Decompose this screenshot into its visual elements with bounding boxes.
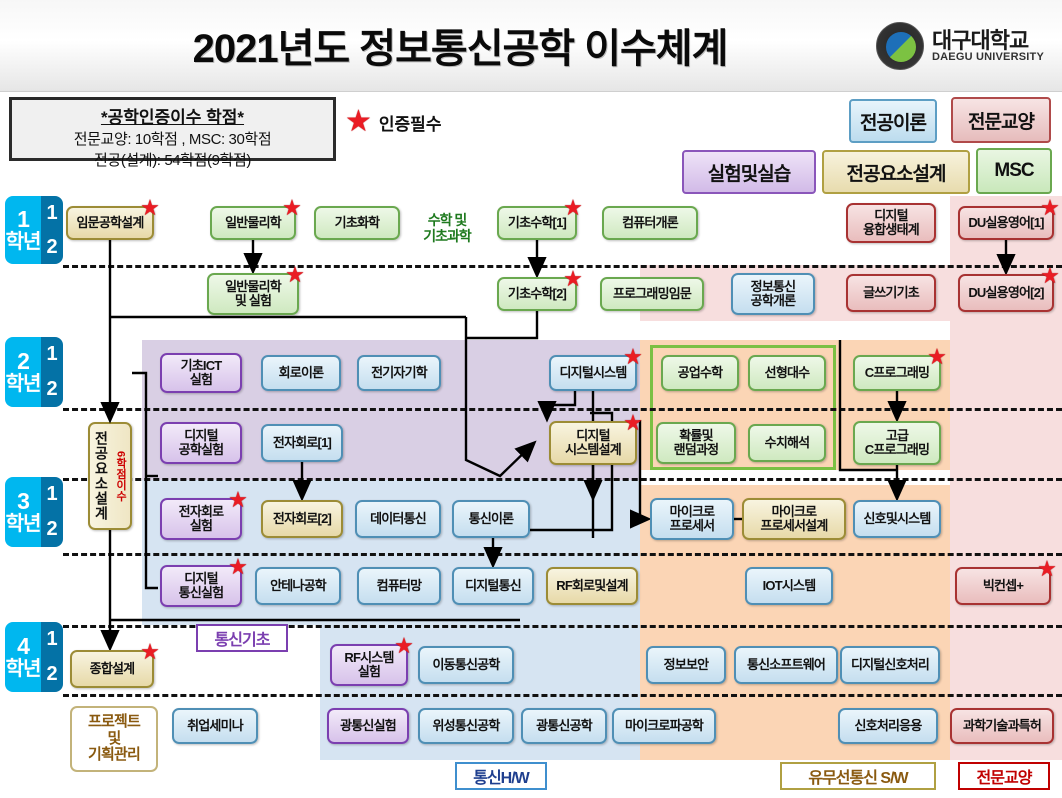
star-icon: ★ <box>345 107 372 137</box>
course-box-c46[interactable]: 디지털신호처리 <box>840 646 940 684</box>
course-box-c6[interactable]: 디지털 융합생태계 <box>846 203 936 243</box>
course-label: 확률및 랜덤과정 <box>674 429 719 458</box>
course-box-c45[interactable]: 통신소프트웨어 <box>734 646 838 684</box>
course-box-c28[interactable]: 전자회로[2] <box>261 500 343 538</box>
semester-1: 1 <box>46 628 57 651</box>
curriculum-diagram: 2021년도 정보통신공학 이수체계 대구대학교 DAEGU UNIVERSIT… <box>0 0 1062 798</box>
course-box-c29[interactable]: 데이터통신 <box>355 500 441 538</box>
course-label: 광통신실험 <box>340 719 396 733</box>
course-label: 전기자기학 <box>371 366 427 380</box>
semester-separator-4 <box>63 553 1062 556</box>
course-label: C프로그래밍 <box>865 366 929 380</box>
course-label: 신호및시스템 <box>864 512 931 526</box>
year-block-2: 2학년12 <box>5 337 63 407</box>
course-box-c49[interactable]: 광통신실험 <box>327 708 409 744</box>
course-box-c51[interactable]: 광통신공학 <box>521 708 607 744</box>
category-label-hw: 통신H/W <box>455 762 547 790</box>
semester-column-2: 12 <box>41 337 63 407</box>
course-label: 수치해석 <box>765 436 810 450</box>
semester-2: 2 <box>46 378 57 401</box>
course-label: IOT시스템 <box>763 579 816 593</box>
course-label: 이동통신공학 <box>433 658 500 672</box>
university-name-en: DAEGU UNIVERSITY <box>932 52 1044 64</box>
year-block-1: 1학년12 <box>5 196 63 264</box>
course-label: 빅컨셉+ <box>983 579 1023 593</box>
course-box-c35[interactable]: 안테나공학 <box>255 567 341 605</box>
course-label: RF회로및설계 <box>556 579 628 593</box>
credit-line-2: 전공(설계): 54학점(9학점) <box>12 149 333 170</box>
semester-2: 2 <box>46 518 57 541</box>
course-box-c16[interactable]: 전기자기학 <box>357 355 441 391</box>
course-box-c50[interactable]: 위성통신공학 <box>418 708 514 744</box>
year-digit: 1 <box>17 208 29 231</box>
course-box-c11[interactable]: 정보통신 공학개론 <box>731 273 815 315</box>
credit-line-1: 전문교양: 10학점 , MSC: 30학점 <box>12 128 333 149</box>
course-label: 전자회로 실험 <box>179 505 224 534</box>
design-credit-note: 6학점이수 <box>113 451 129 501</box>
course-label: 통신소프트웨어 <box>747 658 825 672</box>
course-label: 디지털신호처리 <box>851 658 929 672</box>
course-label: 위성통신공학 <box>433 719 500 733</box>
university-seal-icon <box>876 22 924 70</box>
course-box-c47[interactable]: 프로젝트 및 기획관리 <box>70 706 158 772</box>
star-legend: ★ 인증필수 <box>345 107 441 137</box>
course-label: 일반물리학 및 실험 <box>225 280 281 309</box>
year-suffix: 학년 <box>6 514 41 534</box>
course-label: 취업세미나 <box>187 719 243 733</box>
design-credit-column: 전공요소설계 6학점이수 <box>88 422 132 530</box>
course-label: 고급 C프로그래밍 <box>865 429 929 458</box>
course-box-c24[interactable]: 수치해석 <box>748 424 826 462</box>
category-label-sw: 유무선통신 S/W <box>780 762 936 790</box>
course-box-c38[interactable]: RF회로및설계 <box>546 567 638 605</box>
required-star-icon: ★ <box>140 641 159 663</box>
year-block-4: 4학년12 <box>5 622 63 692</box>
design-credit-label: 전공요소설계 <box>92 431 112 521</box>
course-label: 디지털 시스템설계 <box>565 429 621 458</box>
course-label: 데이터통신 <box>370 512 426 526</box>
course-box-c52[interactable]: 마이크로파공학 <box>612 708 716 744</box>
course-box-c5[interactable]: 컴퓨터개론 <box>602 206 698 240</box>
semester-separator-6 <box>63 694 1062 697</box>
credit-requirements-box: *공학인증이수 학점* 전문교양: 10학점 , MSC: 30학점 전공(설계… <box>9 97 336 161</box>
course-label: 컴퓨터망 <box>377 579 422 593</box>
category-label-liberal: 전문교양 <box>958 762 1050 790</box>
year-digit: 3 <box>17 490 29 513</box>
course-box-c54[interactable]: 과학기술과특허 <box>950 708 1054 744</box>
course-box-c8[interactable]: 일반물리학 및 실험★ <box>207 273 299 315</box>
math-label-line2: 기초과학 <box>404 228 490 244</box>
course-label: 기초ICT 실험 <box>181 359 222 388</box>
semester-1: 1 <box>46 202 57 225</box>
course-label: 마이크로 프로세서 <box>670 505 715 534</box>
course-box-c42[interactable]: RF시스템 실험★ <box>330 644 408 686</box>
credit-title: *공학인증이수 학점* <box>12 103 333 128</box>
legend-chip-liberal: 전문교양 <box>951 97 1051 143</box>
course-label: 광통신공학 <box>536 719 592 733</box>
course-box-c21[interactable]: 디지털 공학실험 <box>160 422 242 464</box>
course-label: 컴퓨터개론 <box>622 216 678 230</box>
course-box-c15[interactable]: 회로이론 <box>261 355 341 391</box>
semester-separator-3 <box>63 478 1062 481</box>
year-number-3: 3학년 <box>5 477 41 547</box>
course-label: 정보보안 <box>664 658 709 672</box>
semester-column-4: 12 <box>41 622 63 692</box>
course-label: DU실용영어[2] <box>968 286 1043 300</box>
course-box-c33[interactable]: 신호및시스템 <box>853 500 941 538</box>
course-label: 기초수학[2] <box>508 287 566 301</box>
course-box-c13[interactable]: DU실용영어[2]★ <box>958 274 1054 312</box>
course-box-c25[interactable]: 디지털 시스템설계★ <box>549 421 637 465</box>
course-box-c23[interactable]: 확률및 랜덤과정 <box>656 422 736 464</box>
course-label: 디지털 융합생태계 <box>863 209 919 238</box>
legend-chip-lab: 실험및실습 <box>682 150 816 194</box>
course-box-c31[interactable]: 마이크로 프로세서 <box>650 498 734 540</box>
semester-column-1: 12 <box>41 196 63 264</box>
year-digit: 2 <box>17 350 29 373</box>
semester-column-3: 12 <box>41 477 63 547</box>
course-box-c26[interactable]: 고급 C프로그래밍 <box>853 421 941 465</box>
course-label: 디지털 공학실험 <box>179 429 224 458</box>
year-suffix: 학년 <box>6 232 41 252</box>
course-box-c17[interactable]: 디지털시스템★ <box>549 355 637 391</box>
course-label: 마이크로 프로세서설계 <box>761 505 828 534</box>
course-box-c20[interactable]: C프로그래밍★ <box>853 355 941 391</box>
course-box-c44[interactable]: 정보보안 <box>646 646 726 684</box>
course-label: 프로그래밍임문 <box>613 287 691 301</box>
required-star-icon: ★ <box>282 197 301 219</box>
course-box-c53[interactable]: 신호처리응용 <box>838 708 938 744</box>
year-number-1: 1학년 <box>5 196 41 264</box>
course-box-c43[interactable]: 이동통신공학 <box>418 646 514 684</box>
course-box-c40[interactable]: 빅컨셉+★ <box>955 567 1051 605</box>
course-box-c41[interactable]: 종합설계★ <box>70 650 154 688</box>
course-box-c36[interactable]: 컴퓨터망 <box>357 567 441 605</box>
course-label: 기초수학[1] <box>508 216 566 230</box>
semester-2: 2 <box>46 236 57 259</box>
course-box-c10[interactable]: 프로그래밍임문 <box>600 277 704 311</box>
course-box-c30[interactable]: 통신이론 <box>452 500 530 538</box>
star-legend-label: 인증필수 <box>379 110 442 135</box>
course-box-c22[interactable]: 전자회로[1] <box>261 424 343 462</box>
legend-chip-theory: 전공이론 <box>849 99 937 143</box>
university-name-ko: 대구대학교 <box>932 29 1044 52</box>
course-box-c1[interactable]: 임문공학설계★ <box>66 206 154 240</box>
course-label: DU실용영어[1] <box>968 216 1043 230</box>
course-box-c9[interactable]: 기초수학[2]★ <box>497 277 577 311</box>
university-logo: 대구대학교 DAEGU UNIVERSITY <box>876 22 1044 70</box>
semester-separator-1 <box>63 265 1062 268</box>
course-box-c14[interactable]: 기초ICT 실험 <box>160 353 242 393</box>
course-box-c39[interactable]: IOT시스템 <box>745 567 833 605</box>
course-label: 글쓰기기초 <box>863 286 919 300</box>
category-label-basic: 통신기초 <box>196 624 288 652</box>
year-block-3: 3학년12 <box>5 477 63 547</box>
course-box-c19[interactable]: 선형대수 <box>748 355 826 391</box>
year-number-4: 4학년 <box>5 622 41 692</box>
course-label: 프로젝트 및 기획관리 <box>88 714 140 764</box>
course-box-c48[interactable]: 취업세미나 <box>172 708 258 744</box>
semester-1: 1 <box>46 483 57 506</box>
course-label: 통신이론 <box>469 512 514 526</box>
course-label: 일반물리학 <box>225 216 281 230</box>
course-box-c27[interactable]: 전자회로 실험★ <box>160 498 242 540</box>
year-digit: 4 <box>17 635 29 658</box>
course-label: 전자회로[1] <box>273 436 331 450</box>
course-box-c34[interactable]: 디지털 통신실험★ <box>160 565 242 607</box>
course-box-c37[interactable]: 디지털통신 <box>452 567 534 605</box>
course-box-c18[interactable]: 공업수학 <box>661 355 739 391</box>
course-box-c4[interactable]: 기초수학[1]★ <box>497 206 577 240</box>
math-science-label: 수학 및 기초과학 <box>404 212 490 244</box>
year-suffix: 학년 <box>6 374 41 394</box>
course-label: 선형대수 <box>765 366 810 380</box>
course-label: 과학기술과특허 <box>963 719 1041 733</box>
course-label: 전자회로[2] <box>273 512 331 526</box>
course-label: 회로이론 <box>279 366 324 380</box>
legend-chip-msc: MSC <box>976 148 1052 194</box>
math-label-line1: 수학 및 <box>404 212 490 228</box>
year-suffix: 학년 <box>6 659 41 679</box>
page-header: 2021년도 정보통신공학 이수체계 대구대학교 DAEGU UNIVERSIT… <box>0 0 1062 92</box>
course-label: 공업수학 <box>678 366 723 380</box>
course-label: 정보통신 공학개론 <box>751 280 796 309</box>
course-box-c3[interactable]: 기초화학 <box>314 206 400 240</box>
course-box-c7[interactable]: DU실용영어[1]★ <box>958 206 1054 240</box>
year-number-2: 2학년 <box>5 337 41 407</box>
semester-separator-2 <box>63 408 1062 411</box>
course-label: 신호처리응용 <box>855 719 922 733</box>
course-box-c32[interactable]: 마이크로 프로세서설계 <box>742 498 846 540</box>
legend-chip-design: 전공요소설계 <box>822 150 970 194</box>
course-label: 안테나공학 <box>270 579 326 593</box>
course-box-c2[interactable]: 일반물리학★ <box>210 206 296 240</box>
course-label: 임문공학설계 <box>77 216 144 230</box>
course-label: 디지털 통신실험 <box>179 572 224 601</box>
course-label: 디지털시스템 <box>560 366 627 380</box>
semester-2: 2 <box>46 663 57 686</box>
page-title: 2021년도 정보통신공학 이수체계 <box>100 16 820 74</box>
course-box-c12[interactable]: 글쓰기기초 <box>846 274 936 312</box>
course-label: 기초화학 <box>335 216 380 230</box>
course-label: 종합설계 <box>90 662 135 676</box>
course-label: RF시스템 실험 <box>344 651 393 680</box>
course-label: 디지털통신 <box>465 579 521 593</box>
semester-1: 1 <box>46 343 57 366</box>
course-label: 마이크로파공학 <box>625 719 703 733</box>
